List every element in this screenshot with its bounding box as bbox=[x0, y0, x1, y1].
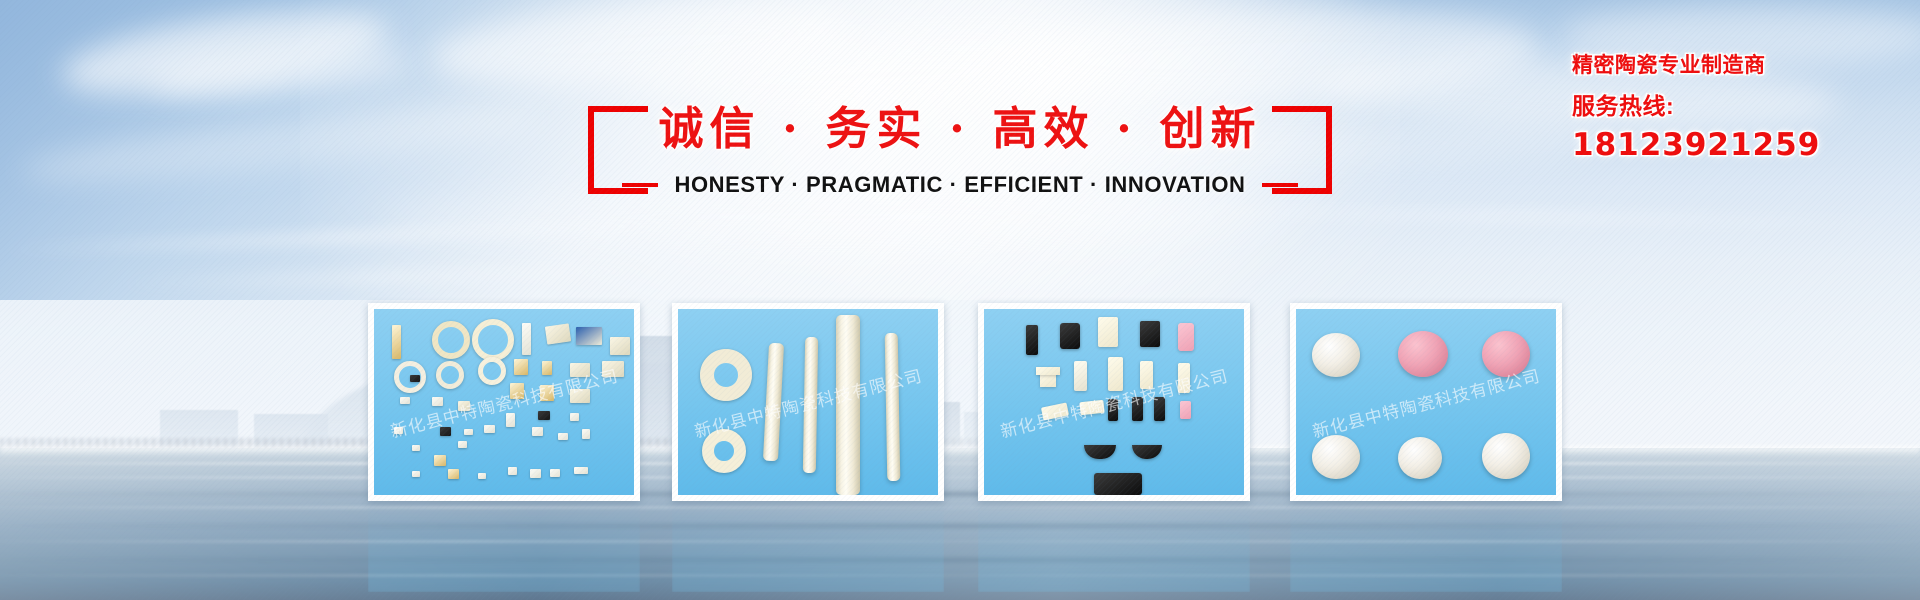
panel-reflection bbox=[368, 506, 640, 592]
panel-reflection bbox=[672, 506, 944, 592]
product-panel-smd-ceramic-components[interactable]: 新化县中特陶瓷科技有限公司 bbox=[368, 303, 640, 501]
product-panel-ceramic-discs-and-nozzles[interactable]: 新化县中特陶瓷科技有限公司 bbox=[1290, 303, 1562, 501]
product-panel-ceramic-tubes-and-rings[interactable]: 新化县中特陶瓷科技有限公司 bbox=[672, 303, 944, 501]
panel-photo: 新化县中特陶瓷科技有限公司 bbox=[1296, 309, 1556, 495]
product-panel-ceramic-blocks-and-plates[interactable]: 新化县中特陶瓷科技有限公司 bbox=[978, 303, 1250, 501]
product-panel-row: 新化县中特陶瓷科技有限公司 新化县中特陶瓷科技有限公司 bbox=[0, 0, 1920, 600]
panel-photo: 新化县中特陶瓷科技有限公司 bbox=[374, 309, 634, 495]
promotional-banner: 诚信 · 务实 · 高效 · 创新 HONESTY · PRAGMATIC · … bbox=[0, 0, 1920, 600]
panel-reflection bbox=[1290, 506, 1562, 592]
panel-photo: 新化县中特陶瓷科技有限公司 bbox=[984, 309, 1244, 495]
panel-reflection bbox=[978, 506, 1250, 592]
panel-photo: 新化县中特陶瓷科技有限公司 bbox=[678, 309, 938, 495]
